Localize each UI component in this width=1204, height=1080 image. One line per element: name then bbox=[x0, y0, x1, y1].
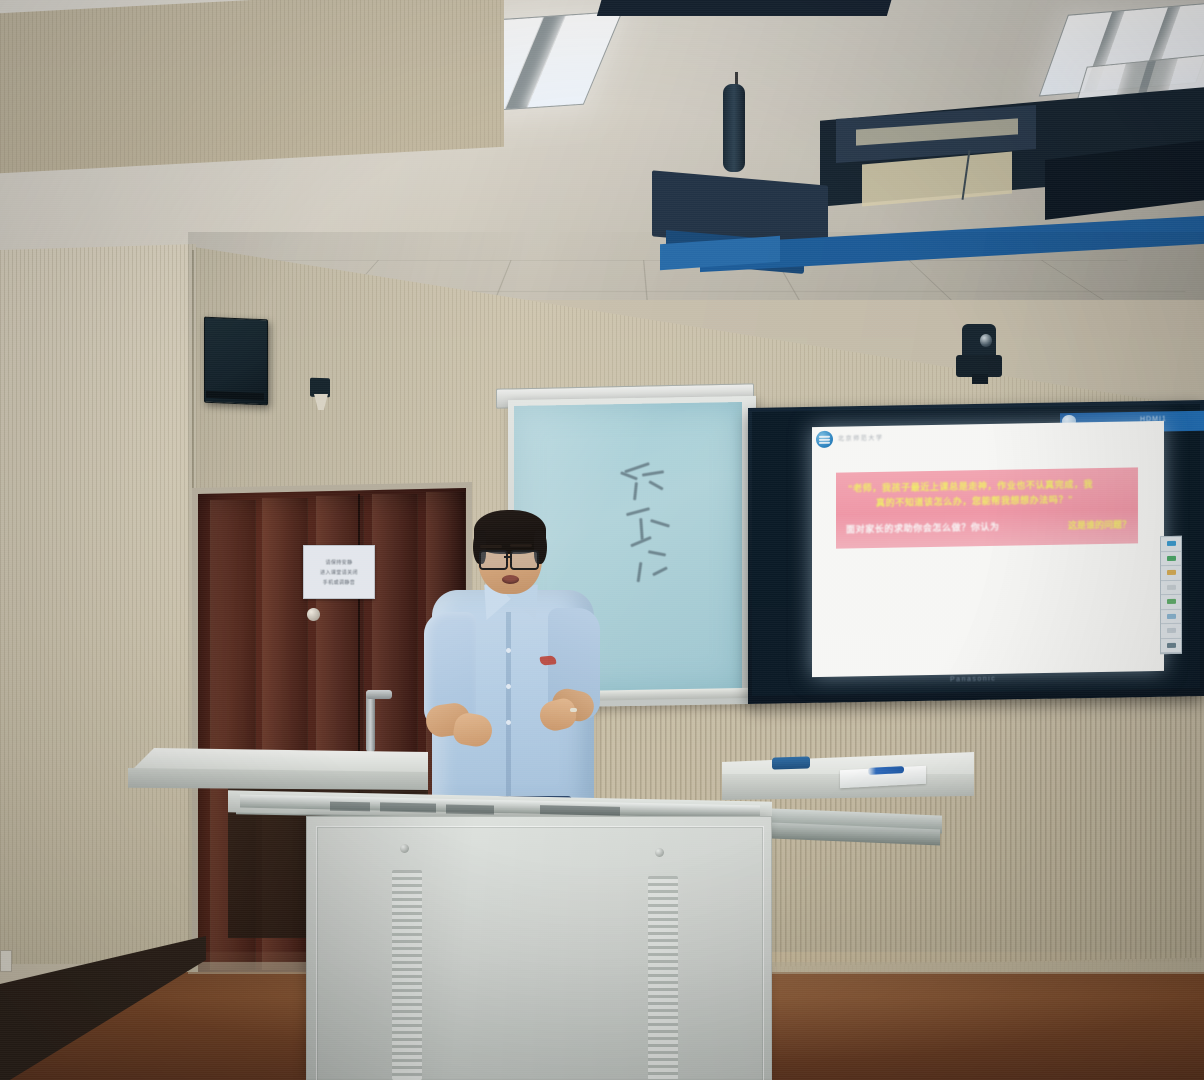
eyeglasses-lens-left-icon bbox=[479, 550, 508, 570]
presenter bbox=[418, 508, 610, 808]
toolbar-button-6[interactable] bbox=[1161, 609, 1181, 624]
ceiling-soffit bbox=[597, 0, 893, 16]
center-desk-slot bbox=[330, 802, 370, 812]
slide-banner-line-2: 真的不知道该怎么办，您能帮我想想办法吗？” bbox=[876, 493, 1073, 509]
center-desk-slot bbox=[446, 804, 494, 814]
toolbar-button-3[interactable] bbox=[1161, 566, 1181, 581]
hanging-cylinder-device-icon bbox=[723, 84, 745, 172]
eyeglasses-lens-right-icon bbox=[510, 550, 539, 570]
slide-banner: “老师，我孩子最近上课总是走神，作业也不认真完成，我 真的不知道该怎么办，您能帮… bbox=[836, 467, 1138, 548]
slide-logo-icon bbox=[816, 431, 833, 448]
door-lever-handle-icon[interactable] bbox=[366, 690, 375, 752]
presenter-mouth bbox=[502, 575, 519, 584]
toolbar-button-1[interactable] bbox=[1161, 537, 1181, 552]
slide-banner-line-4: 这是谁的问题？ bbox=[1068, 518, 1131, 532]
door-lever-handle-arm[interactable] bbox=[366, 690, 392, 699]
slide-header-text: 北京师范大学 bbox=[838, 433, 884, 443]
slide-side-toolbar[interactable] bbox=[1160, 536, 1182, 654]
presenter-eyebrow-left bbox=[480, 545, 502, 548]
shirt-button bbox=[506, 648, 511, 653]
toolbar-button-4[interactable] bbox=[1161, 580, 1181, 595]
center-desk-slot bbox=[540, 805, 620, 816]
chest-pocket-logo-icon bbox=[540, 655, 557, 666]
door-notice-sign: 请保持安静 进入课堂请关闭 手机或调静音 bbox=[303, 545, 375, 599]
toolbar-button-7[interactable] bbox=[1161, 624, 1181, 639]
wall-outlet-icon[interactable] bbox=[0, 950, 12, 972]
toolbar-button-2[interactable] bbox=[1161, 551, 1181, 566]
eyeglasses-bridge-icon bbox=[504, 556, 510, 558]
whiteboard-handwriting bbox=[614, 465, 684, 596]
presenter-eyebrow-right bbox=[510, 544, 532, 547]
left-wall bbox=[0, 244, 196, 964]
presentation-slide[interactable]: 北京师范大学 “老师，我孩子最近上课总是走神，作业也不认真完成，我 真的不知道该… bbox=[812, 421, 1164, 677]
toolbar-button-5[interactable] bbox=[1161, 595, 1181, 610]
whiteboard-eraser-icon[interactable] bbox=[772, 756, 810, 769]
presenter-ring-icon bbox=[570, 708, 577, 712]
door-sign-line-2: 进入课堂请关闭 bbox=[320, 569, 358, 576]
door-knob-icon[interactable] bbox=[307, 608, 320, 621]
camera-mount-arm bbox=[972, 374, 988, 384]
camera-lens-icon bbox=[980, 334, 992, 347]
door-sign-line-3: 手机或调静音 bbox=[323, 579, 355, 586]
upper-right-wall bbox=[0, 0, 504, 173]
presenter-shirt-placket bbox=[506, 612, 511, 808]
door-sign-line-1: 请保持安静 bbox=[325, 559, 352, 566]
slide-banner-line-3: 面对家长的求助你会怎么做？你认为 bbox=[846, 520, 1000, 536]
toolbar-button-8[interactable] bbox=[1161, 638, 1181, 653]
smartboard-brand-text: Panasonic bbox=[950, 676, 996, 684]
classroom-photo: 请保持安静 进入课堂请关闭 手机或调静音 HDMI1 Panasonic bbox=[0, 0, 1204, 1080]
center-desk-slot bbox=[380, 802, 436, 812]
shirt-button bbox=[506, 684, 511, 689]
shirt-button bbox=[506, 720, 511, 725]
cabinet-shading bbox=[306, 816, 772, 1080]
